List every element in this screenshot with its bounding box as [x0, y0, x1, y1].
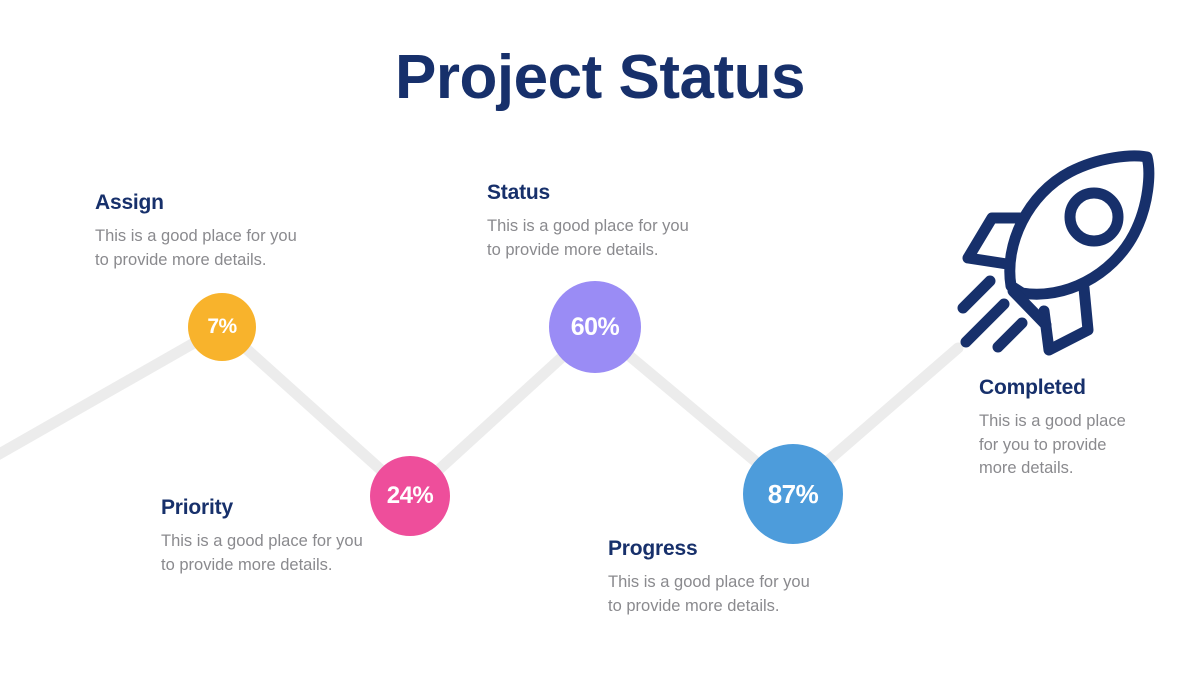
node-circle-assign[interactable]: 7%: [188, 293, 256, 361]
rocket-icon: [952, 148, 1182, 363]
node-value-assign: 7%: [207, 315, 236, 339]
node-heading-assign: Assign: [95, 190, 310, 215]
node-value-progress: 87%: [768, 479, 819, 510]
node-value-status: 60%: [571, 313, 620, 342]
node-description-progress: This is a good place for you to provide …: [608, 571, 823, 618]
node-heading-progress: Progress: [608, 536, 823, 561]
node-heading-priority: Priority: [161, 495, 373, 520]
node-text-completed: Completed This is a good place for you t…: [979, 375, 1139, 480]
node-circle-progress[interactable]: 87%: [743, 444, 843, 544]
node-circle-status[interactable]: 60%: [549, 281, 641, 373]
rocket-speed-line-3: [998, 323, 1022, 347]
node-description-assign: This is a good place for you to provide …: [95, 225, 310, 272]
rocket-speed-line-1: [963, 281, 990, 308]
rocket-window: [1070, 193, 1118, 241]
rocket-body: [1010, 156, 1149, 294]
node-heading-status: Status: [487, 180, 702, 205]
node-text-progress: Progress This is a good place for you to…: [608, 536, 823, 618]
node-description-completed: This is a good place for you to provide …: [979, 410, 1139, 480]
node-circle-priority[interactable]: 24%: [370, 456, 450, 536]
rocket-speed-line-2: [966, 304, 1004, 342]
node-text-priority: Priority This is a good place for you to…: [161, 495, 373, 577]
node-text-assign: Assign This is a good place for you to p…: [95, 190, 310, 272]
slide-canvas: Project Status Assign This is a good pla…: [0, 0, 1200, 675]
node-description-priority: This is a good place for you to provide …: [161, 530, 373, 577]
node-description-status: This is a good place for you to provide …: [487, 215, 702, 262]
node-heading-completed: Completed: [979, 375, 1139, 400]
node-value-priority: 24%: [387, 482, 434, 510]
node-text-status: Status This is a good place for you to p…: [487, 180, 702, 262]
